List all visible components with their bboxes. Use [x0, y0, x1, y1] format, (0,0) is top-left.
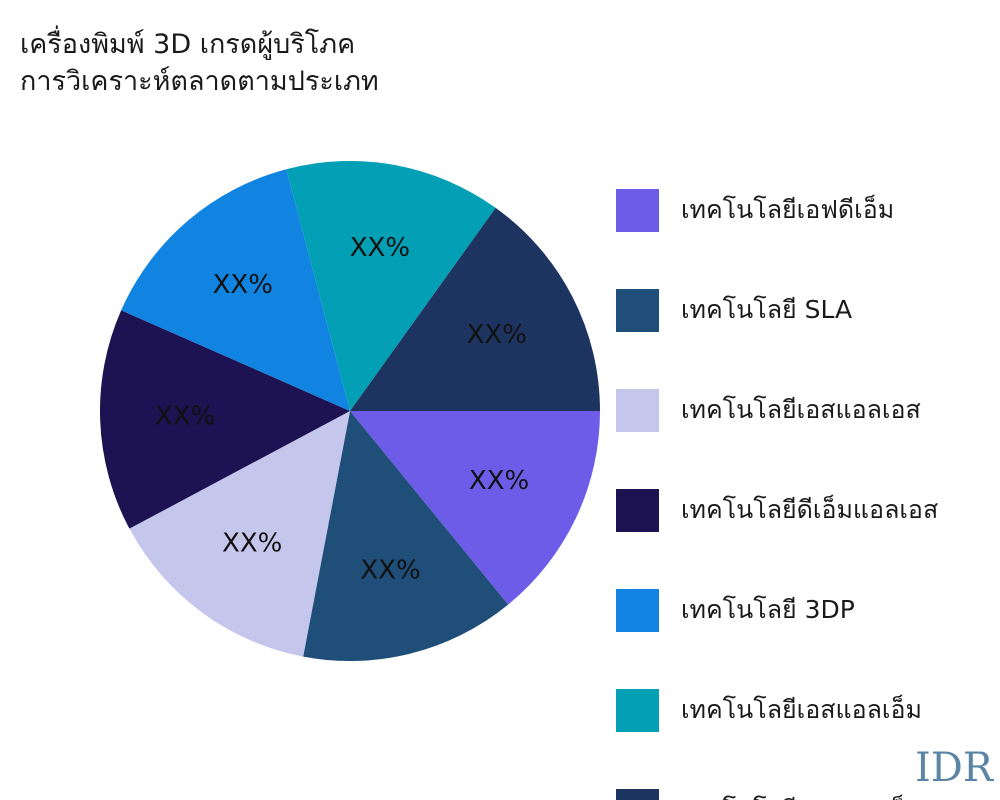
- legend-item-label: เทคโนโลยีดีเอ็มแอลเอส: [681, 495, 938, 525]
- legend-item[interactable]: เทคโนโลยีเอสแอลเอ็ม: [616, 760, 1000, 800]
- legend-item[interactable]: เทคโนโลยีเอสแอลเอ็ม: [616, 660, 1000, 760]
- pie-chart: XX%XX%XX%XX%XX%XX%XX%: [0, 0, 640, 800]
- legend-item[interactable]: เทคโนโลยี SLA: [616, 260, 1000, 360]
- legend-color-swatch: [616, 189, 659, 232]
- legend-color-swatch: [616, 589, 659, 632]
- legend-item-label: เทคโนโลยีเอสแอลเอส: [681, 395, 921, 425]
- legend-item[interactable]: เทคโนโลยีเอสแอลเอส: [616, 360, 1000, 460]
- legend-item-label: เทคโนโลยีเอสแอลเอ็ม: [681, 695, 922, 725]
- pie-slice-label: XX%: [469, 466, 529, 496]
- pie-slice-label: XX%: [213, 270, 273, 300]
- legend-color-swatch: [616, 389, 659, 432]
- legend-color-swatch: [616, 689, 659, 732]
- legend-item-label: เทคโนโลยีเอฟดีเอ็ม: [681, 195, 894, 225]
- legend-item[interactable]: เทคโนโลยี 3DP: [616, 560, 1000, 660]
- pie-slice-label: XX%: [155, 402, 215, 432]
- pie-slice-label: XX%: [350, 233, 410, 263]
- legend-item-label: เทคโนโลยีเอสแอลเอ็ม: [681, 795, 922, 800]
- legend-item-label: เทคโนโลยี 3DP: [681, 595, 855, 625]
- legend-item-label: เทคโนโลยี SLA: [681, 295, 852, 325]
- pie-slice-label: XX%: [222, 528, 282, 558]
- chart-legend: เทคโนโลยีเอฟดีเอ็มเทคโนโลยี SLAเทคโนโลยี…: [616, 160, 1000, 800]
- pie-slice-label: XX%: [467, 320, 527, 350]
- legend-item[interactable]: เทคโนโลยีเอฟดีเอ็ม: [616, 160, 1000, 260]
- legend-color-swatch: [616, 789, 659, 800]
- pie-chart-page: เครื่องพิมพ์ 3D เกรดผู้บริโภค การวิเคราะ…: [0, 0, 1000, 800]
- legend-color-swatch: [616, 289, 659, 332]
- pie-slice-label: XX%: [360, 555, 420, 585]
- legend-color-swatch: [616, 489, 659, 532]
- pie-chart-svg: XX%XX%XX%XX%XX%XX%XX%: [0, 0, 640, 800]
- legend-item[interactable]: เทคโนโลยีดีเอ็มแอลเอส: [616, 460, 1000, 560]
